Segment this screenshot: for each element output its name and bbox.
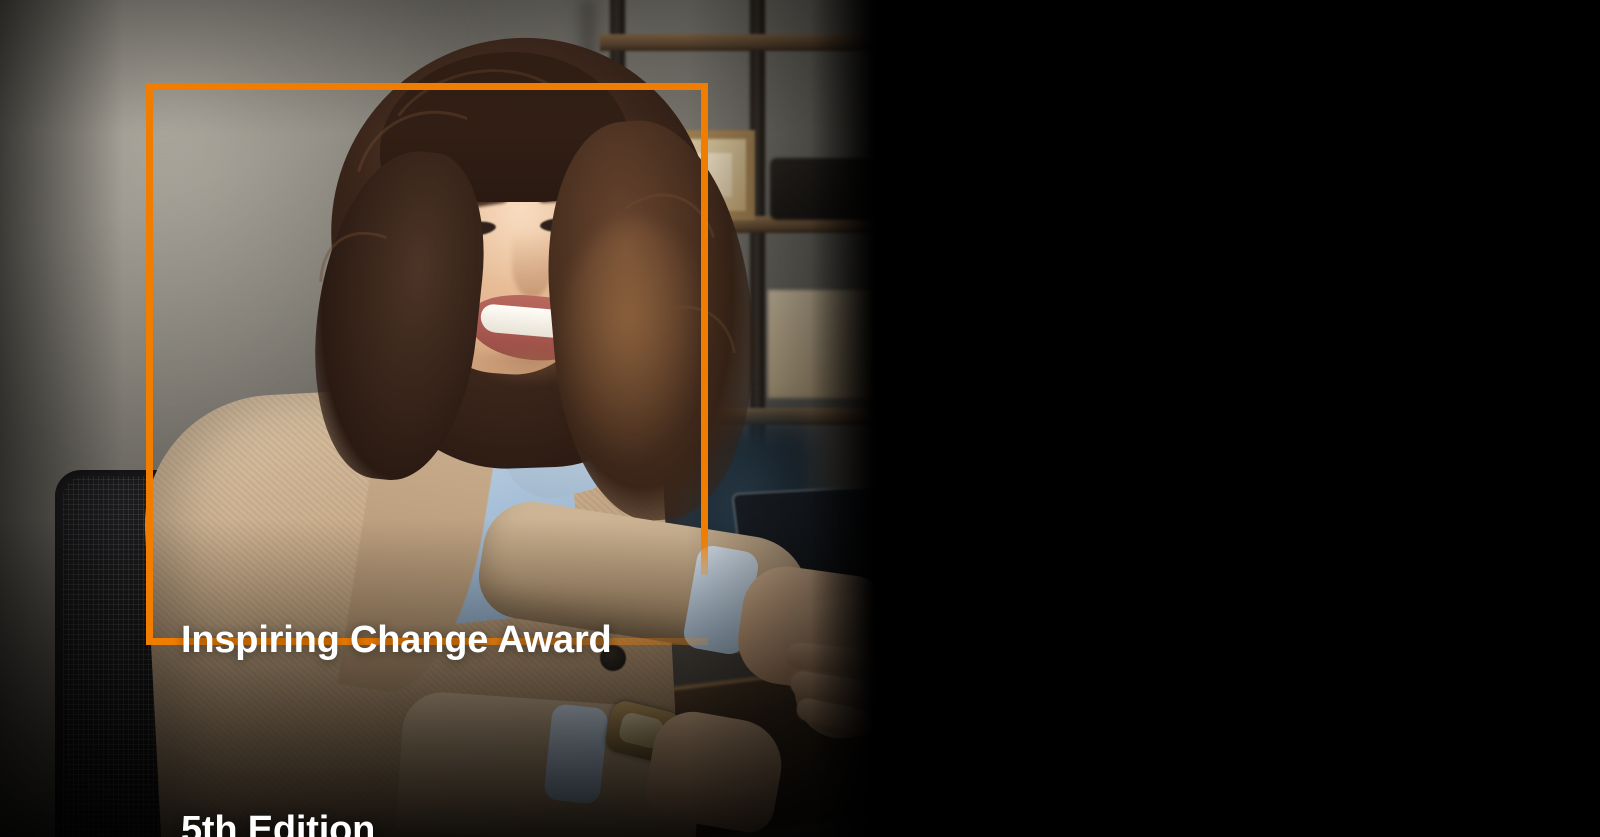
award-title-line-2: 5th Edition <box>181 799 612 837</box>
hero-photo: Inspiring Change Award 5th Edition <box>0 0 880 837</box>
award-title-line-1: Inspiring Change Award <box>181 609 612 672</box>
content-panel: orange ™ Register today and help spark c… <box>880 0 1600 837</box>
award-title: Inspiring Change Award 5th Edition <box>181 482 612 837</box>
promotional-banner: Inspiring Change Award 5th Edition orang… <box>0 0 1600 837</box>
hand-on-desk <box>641 706 788 837</box>
